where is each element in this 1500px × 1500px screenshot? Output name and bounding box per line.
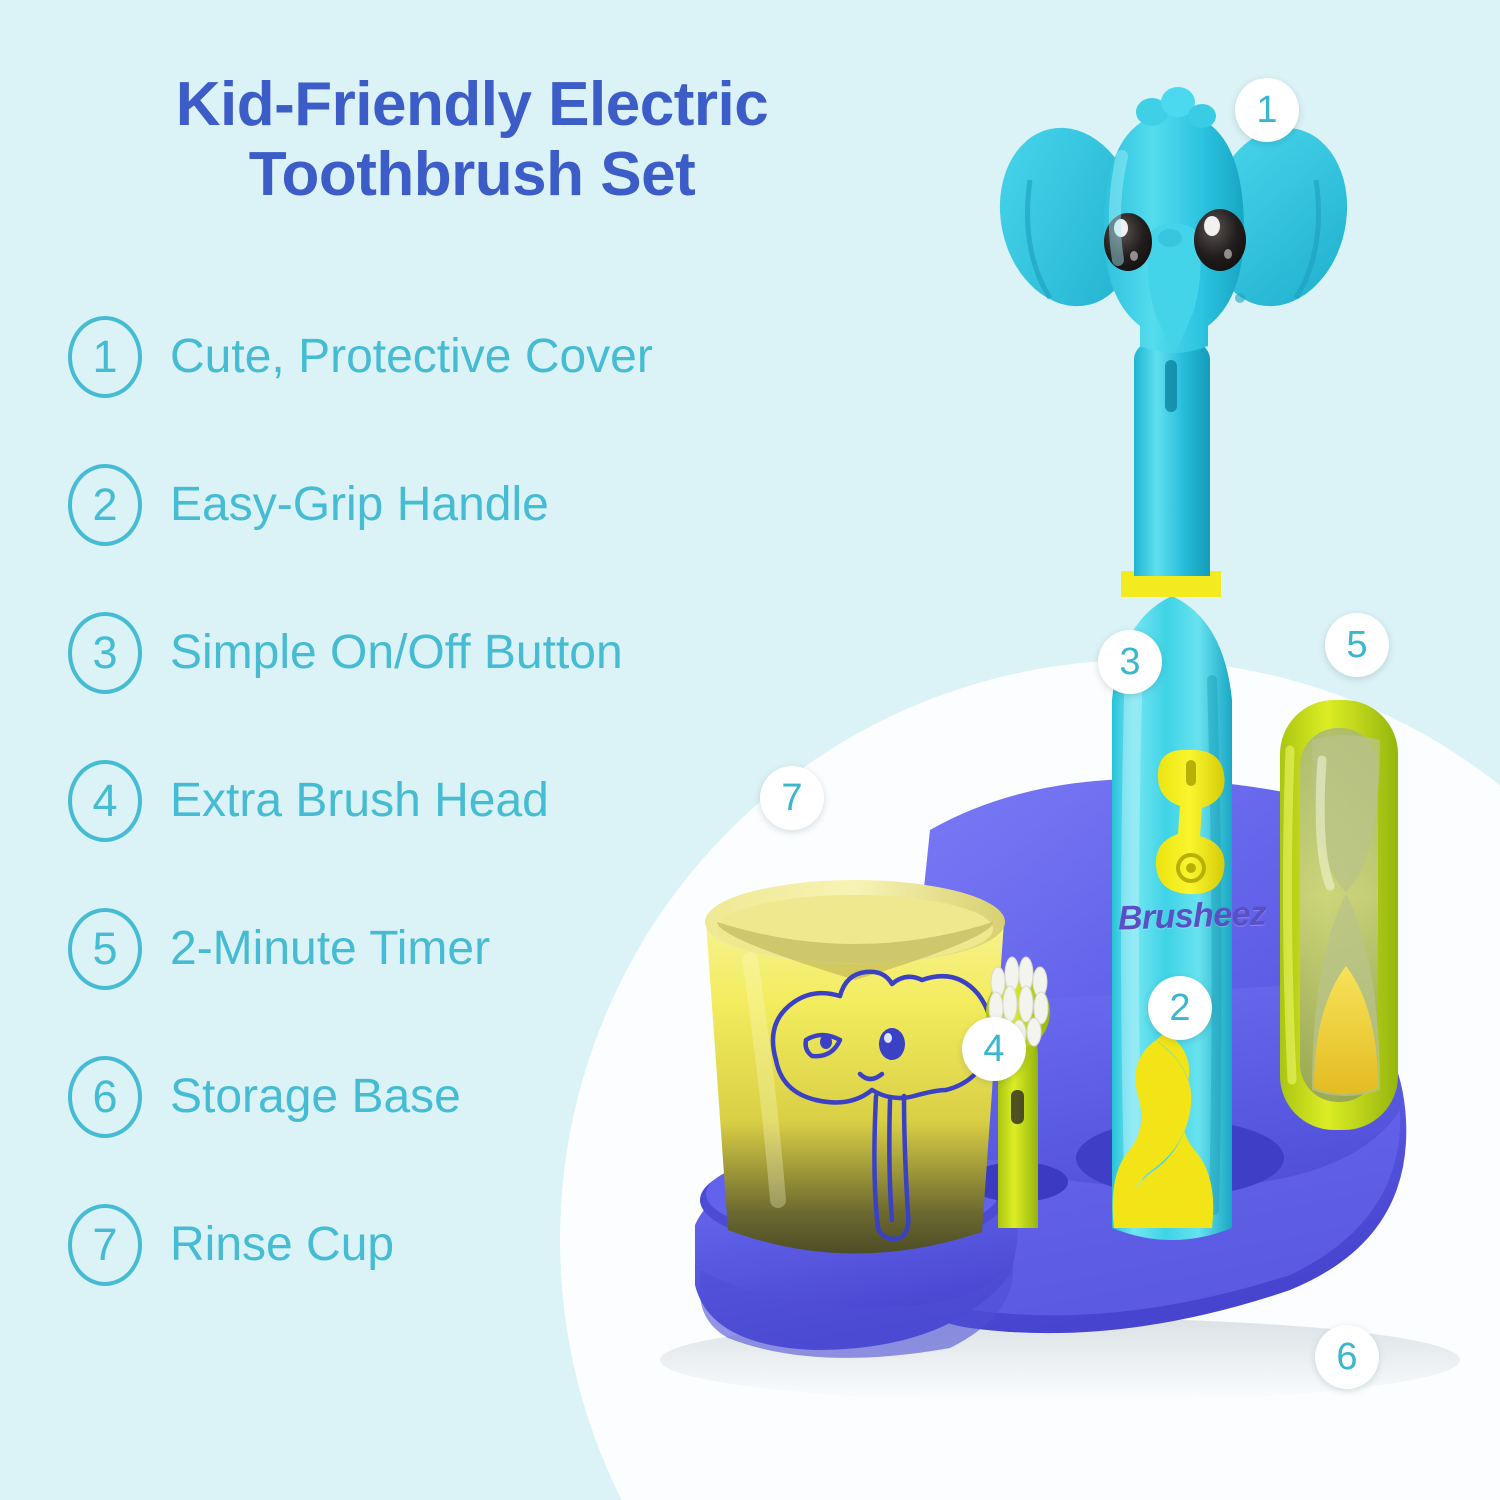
callout-badge-2[interactable]: 2: [1148, 976, 1212, 1040]
infographic-canvas: Kid-Friendly Electric Toothbrush Set 1 C…: [0, 0, 1500, 1500]
callout-badge-6[interactable]: 6: [1315, 1325, 1379, 1389]
rinse-cup: [705, 880, 1005, 1254]
callout-badge-4[interactable]: 4: [962, 1017, 1026, 1081]
feature-label: 2-Minute Timer: [170, 925, 490, 973]
callout-badge-5[interactable]: 5: [1325, 613, 1389, 677]
feature-label: Simple On/Off Button: [170, 629, 623, 677]
feature-number-badge: 6: [68, 1056, 142, 1138]
feature-label: Easy-Grip Handle: [170, 481, 549, 529]
feature-number-badge: 5: [68, 908, 142, 990]
feature-number-badge: 2: [68, 464, 142, 546]
feature-number-badge: 3: [68, 612, 142, 694]
feature-number-badge: 4: [68, 760, 142, 842]
callout-badge-1[interactable]: 1: [1235, 78, 1299, 142]
feature-label: Storage Base: [170, 1073, 461, 1121]
feature-number-badge: 1: [68, 316, 142, 398]
product-photo: [600, 60, 1480, 1460]
feature-label: Extra Brush Head: [170, 777, 549, 825]
feature-label: Rinse Cup: [170, 1221, 394, 1269]
brusheez-logo: Brusheez: [1117, 894, 1267, 938]
callout-badge-7[interactable]: 7: [760, 766, 824, 830]
feature-number-badge: 7: [68, 1204, 142, 1286]
protective-cover-elephant: [984, 87, 1363, 353]
feature-label: Cute, Protective Cover: [170, 333, 653, 381]
callout-badge-3[interactable]: 3: [1098, 630, 1162, 694]
two-minute-timer: [1280, 700, 1398, 1130]
